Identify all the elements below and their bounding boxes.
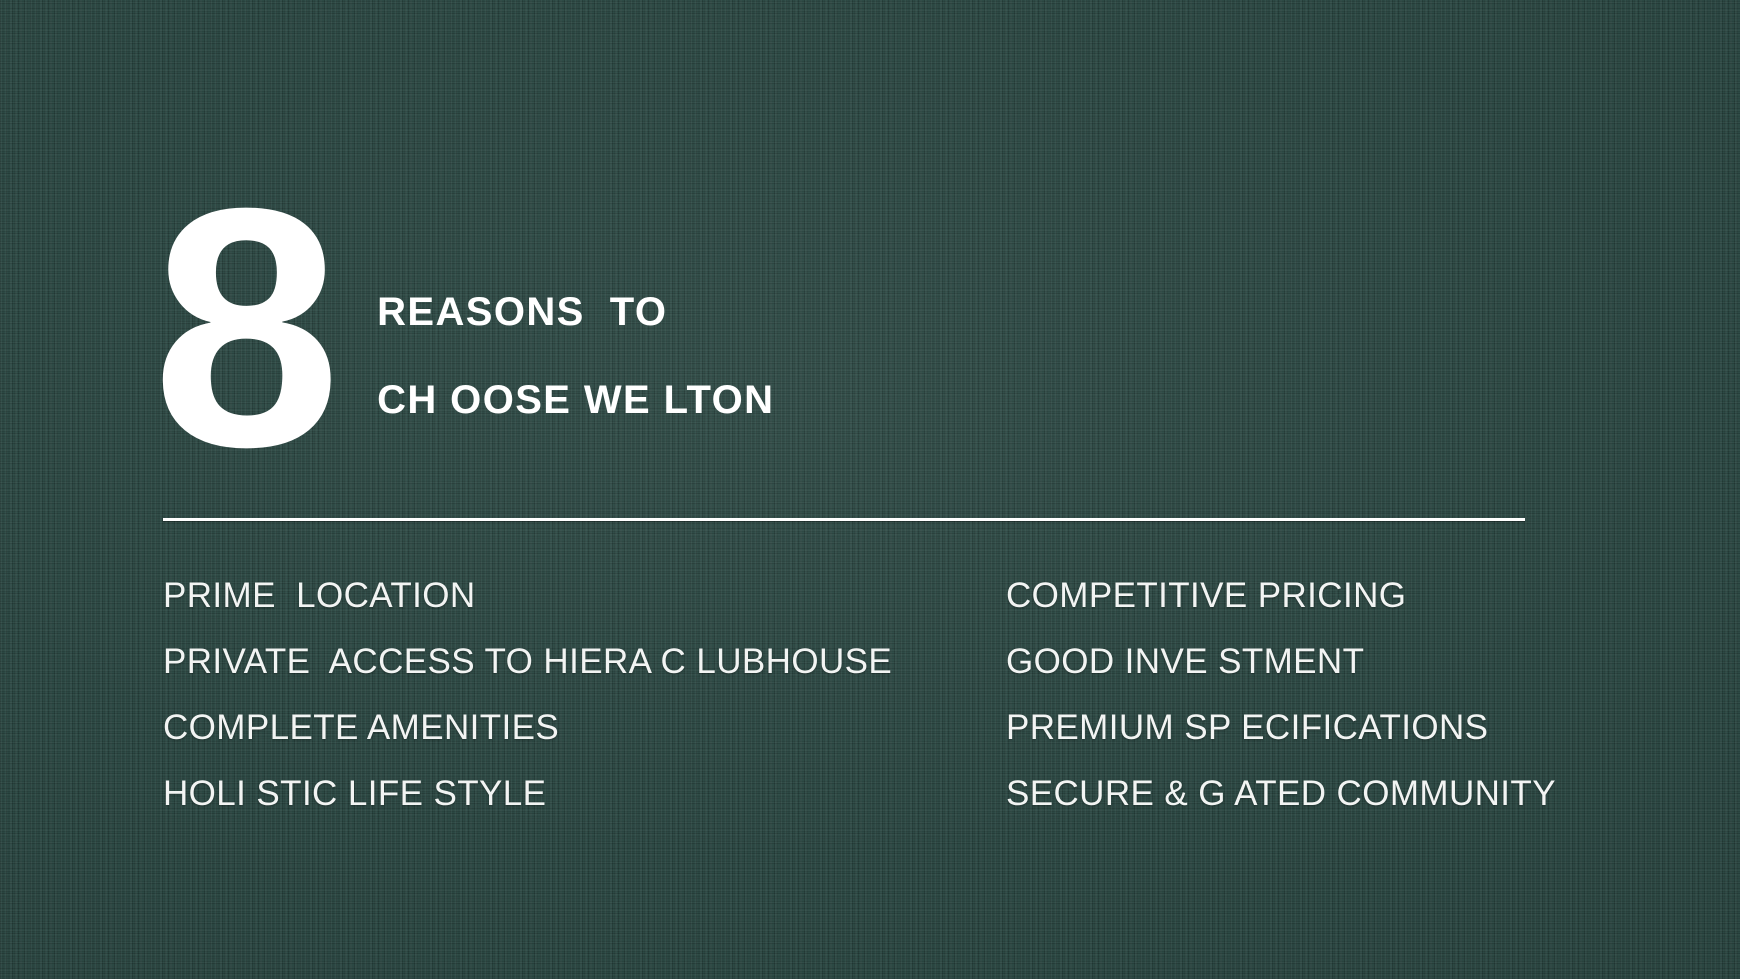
horizontal-divider (163, 518, 1525, 521)
slide-title-block: REASONS TO CH OOSE WE LTON (377, 196, 774, 420)
slide-title-line-2: CH OOSE WE LTON (377, 380, 774, 420)
presentation-slide: 8 REASONS TO CH OOSE WE LTON PRIME LOCAT… (0, 0, 1740, 979)
reasons-column-left: PRIME LOCATION PRIVATE ACCESS TO HIERA C… (163, 578, 1006, 842)
slide-content: 8 REASONS TO CH OOSE WE LTON PRIME LOCAT… (0, 0, 1740, 979)
list-item: PREMIUM SP ECIFICATIONS (1006, 710, 1563, 776)
reasons-column-right: COMPETITIVE PRICING GOOD INVE STMENT PRE… (1006, 578, 1563, 842)
list-item: PRIME LOCATION (163, 578, 1006, 644)
list-item: COMPETITIVE PRICING (1006, 578, 1563, 644)
slide-header: 8 REASONS TO CH OOSE WE LTON (152, 196, 774, 461)
list-item: COMPLETE AMENITIES (163, 710, 1006, 776)
list-item: SECURE & G ATED COMMUNITY (1006, 776, 1563, 842)
reasons-list: PRIME LOCATION PRIVATE ACCESS TO HIERA C… (163, 578, 1563, 842)
list-item: PRIVATE ACCESS TO HIERA C LUBHOUSE (163, 644, 1006, 710)
reason-count-number: 8 (152, 196, 335, 461)
list-item: HOLI STIC LIFE STYLE (163, 776, 1006, 842)
list-item: GOOD INVE STMENT (1006, 644, 1563, 710)
slide-title-line-1: REASONS TO (377, 292, 774, 332)
